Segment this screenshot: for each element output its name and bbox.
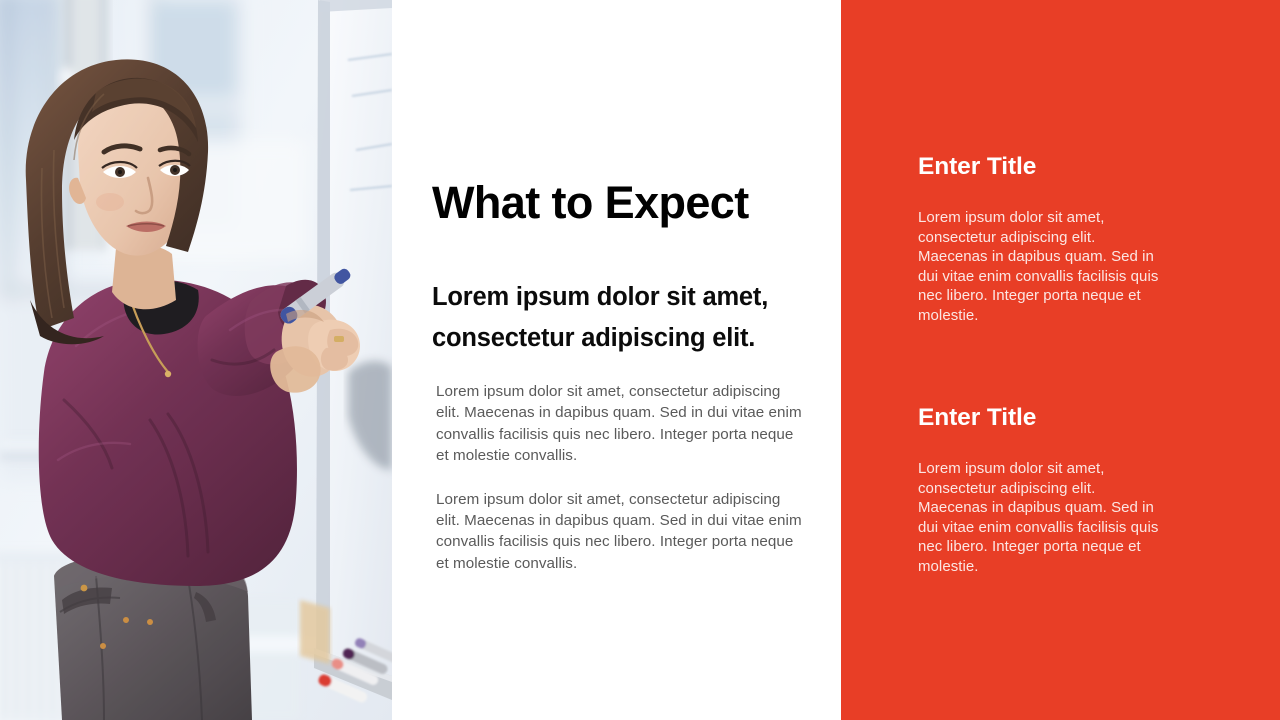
panel-block-2-title: Enter Title xyxy=(918,403,1168,433)
panel-block-2: Enter Title Lorem ipsum dolor sit amet, … xyxy=(918,403,1168,577)
hero-photo xyxy=(0,0,392,720)
body-paragraphs: Lorem ipsum dolor sit amet, consectetur … xyxy=(436,381,804,574)
panel-block-1-title: Enter Title xyxy=(918,152,1168,182)
main-content-column: What to Expect Lorem ipsum dolor sit ame… xyxy=(432,0,812,720)
panel-block-1-text: Lorem ipsum dolor sit amet, consectetur … xyxy=(918,208,1168,326)
slide-canvas: What to Expect Lorem ipsum dolor sit ame… xyxy=(0,0,1280,720)
panel-block-1: Enter Title Lorem ipsum dolor sit amet, … xyxy=(918,152,1168,326)
accent-panel: Enter Title Lorem ipsum dolor sit amet, … xyxy=(841,0,1280,720)
page-subtitle: Lorem ipsum dolor sit amet, consectetur … xyxy=(432,277,804,359)
whiteboard-photo-illustration xyxy=(0,0,392,720)
panel-block-2-text: Lorem ipsum dolor sit amet, consectetur … xyxy=(918,459,1168,577)
body-paragraph-1: Lorem ipsum dolor sit amet, consectetur … xyxy=(436,381,804,467)
body-paragraph-2: Lorem ipsum dolor sit amet, consectetur … xyxy=(436,489,804,575)
page-title: What to Expect xyxy=(432,178,749,228)
